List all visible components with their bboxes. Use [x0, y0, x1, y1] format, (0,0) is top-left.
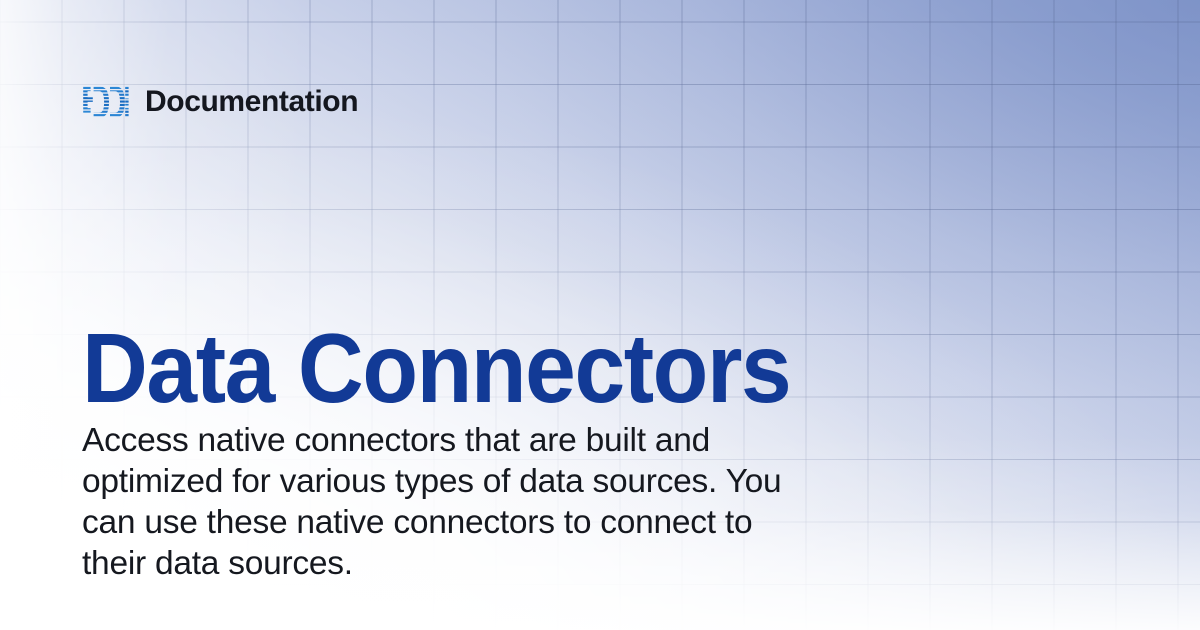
page-description: Access native connectors that are built … [82, 420, 892, 584]
card-content: Documentation Data Connectors Access nat… [0, 0, 1200, 630]
striped-data-mark-logo-icon [82, 83, 129, 121]
page-description-line: can use these native connectors to conne… [82, 502, 892, 543]
page-description-line: their data sources. [82, 543, 892, 584]
page-description-line: Access native connectors that are built … [82, 420, 892, 461]
page-title: Data Connectors [82, 319, 790, 417]
og-banner-card: Documentation Data Connectors Access nat… [0, 0, 1200, 630]
brand-lockup: Documentation [82, 81, 358, 123]
page-description-line: optimized for various types of data sour… [82, 461, 892, 502]
brand-name: Documentation [145, 87, 358, 117]
